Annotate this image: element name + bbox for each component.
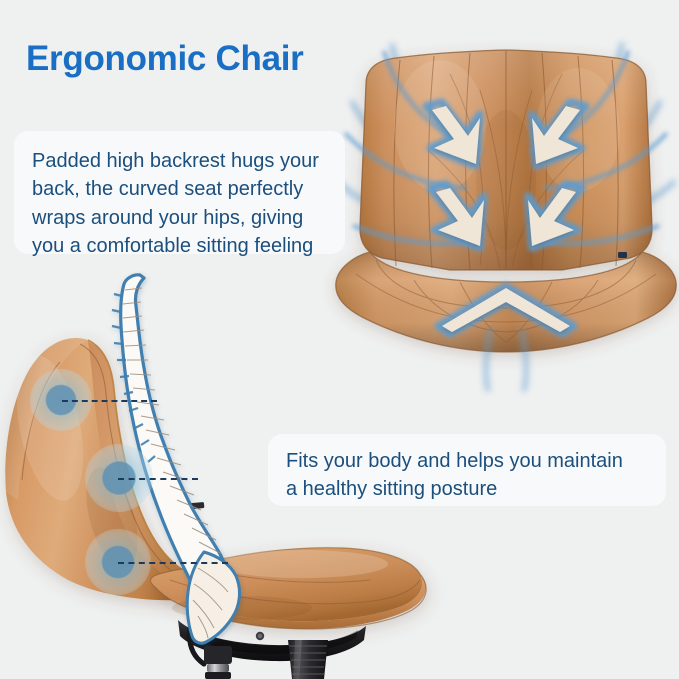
callout-1-line-2: back, the curved seat perfectly (32, 175, 327, 203)
infographic-canvas: Ergonomic Chair Padded high backrest hug… (0, 0, 679, 679)
connector-line-upper (62, 400, 157, 402)
brand-tag (618, 252, 627, 258)
callout-1-line-3: wraps around your hips, giving (32, 204, 327, 232)
gas-cylinder-cover (288, 640, 328, 679)
callout-padded-backrest: Padded high backrest hugs your back, the… (14, 131, 345, 254)
callout-2-line-1: Fits your body and helps you maintain (286, 447, 648, 475)
page-title: Ergonomic Chair (26, 40, 303, 79)
callout-1-line-4: you a comfortable sitting feeling (32, 232, 327, 260)
callout-2-line-2: a healthy sitting posture (286, 475, 648, 503)
callout-healthy-posture: Fits your body and helps you maintain a … (268, 434, 666, 506)
connector-line-mid (118, 478, 198, 480)
callout-1-line-1: Padded high backrest hugs your (32, 147, 327, 175)
connector-line-lumbar (118, 562, 228, 564)
